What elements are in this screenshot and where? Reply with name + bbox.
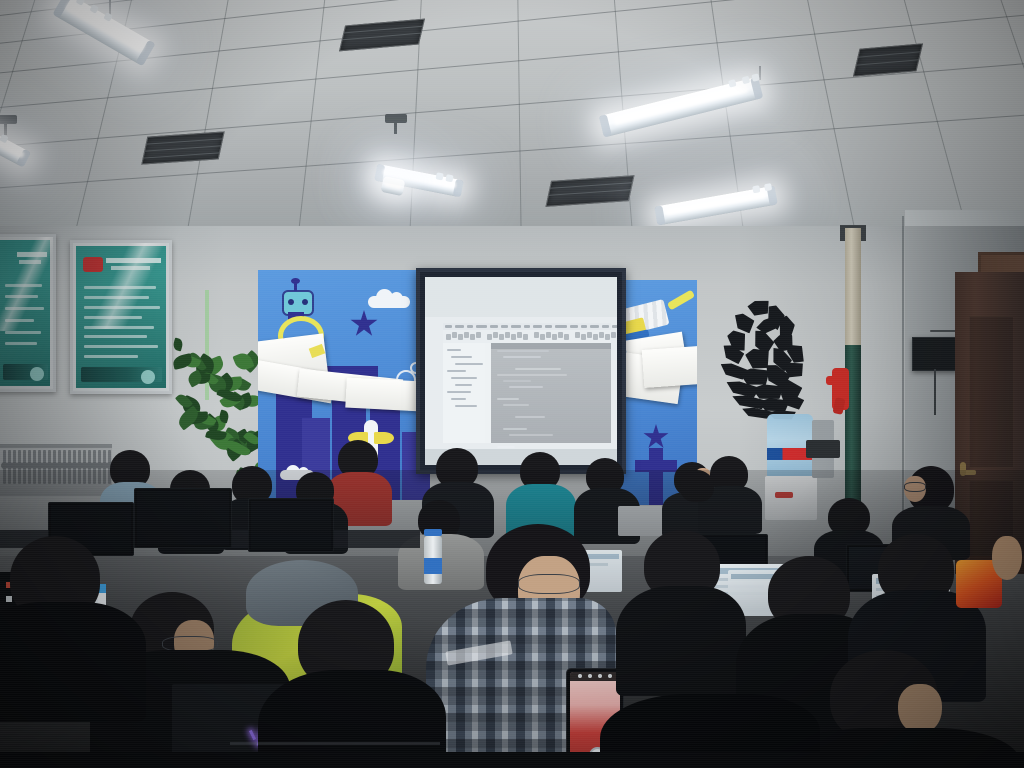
ceiling-vent-1 xyxy=(141,131,224,164)
desk-edge-highlight xyxy=(230,742,440,745)
student-left-front-1 xyxy=(0,536,120,696)
ceiling-tile-grid xyxy=(0,0,1024,250)
ceiling xyxy=(0,0,1024,250)
glasses-plaid-student xyxy=(518,574,580,594)
desk-front-edge xyxy=(0,752,1024,768)
light-hanger-2 xyxy=(0,115,17,124)
classroom-photo xyxy=(0,0,1024,768)
phone-top-ui xyxy=(570,672,620,681)
student-right-front xyxy=(790,650,990,768)
student-far-right-edge xyxy=(992,536,1024,606)
student-right-dark-1 xyxy=(626,530,736,680)
light-hanger-3 xyxy=(385,114,407,123)
